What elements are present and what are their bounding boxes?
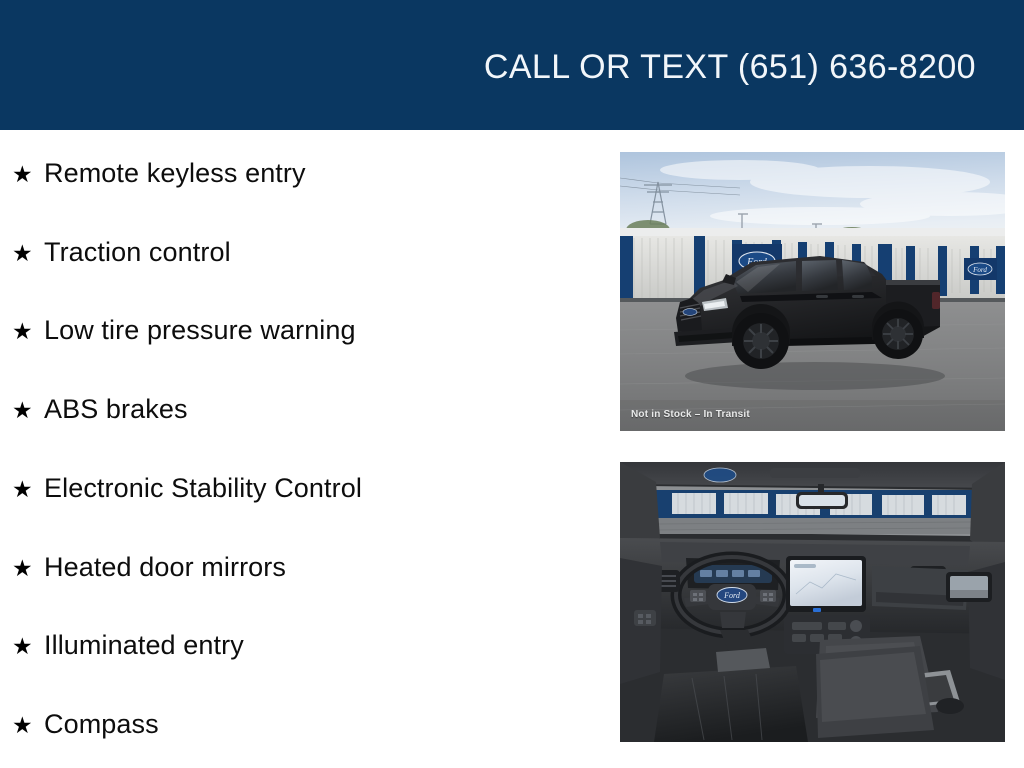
list-item: ★ Remote keyless entry: [0, 134, 600, 213]
list-item: ★ Illuminated entry: [0, 607, 600, 686]
svg-text:Ford: Ford: [972, 266, 987, 274]
star-bullet-icon: ★: [12, 397, 44, 422]
vehicle-interior-photo[interactable]: Ford: [620, 462, 1005, 742]
list-item: ★ Low tire pressure warning: [0, 292, 600, 371]
vehicle-photo-column: Ford Ford: [620, 152, 1005, 742]
feature-label: Compass: [44, 709, 600, 740]
star-bullet-icon: ★: [12, 476, 44, 501]
vehicle-exterior-photo[interactable]: Ford Ford: [620, 152, 1005, 431]
list-item: ★ Compass: [0, 685, 600, 764]
star-bullet-icon: ★: [12, 633, 44, 658]
feature-label: Heated door mirrors: [44, 552, 600, 583]
feature-label: Electronic Stability Control: [44, 473, 600, 504]
interior-photo-artwork: Ford: [620, 462, 1005, 742]
list-item: ★ Traction control: [0, 213, 600, 292]
svg-text:Ford: Ford: [723, 591, 741, 600]
list-item: ★ Electronic Stability Control: [0, 449, 600, 528]
feature-label: ABS brakes: [44, 394, 600, 425]
feature-label: Illuminated entry: [44, 630, 600, 661]
star-bullet-icon: ★: [12, 318, 44, 343]
feature-label: Low tire pressure warning: [44, 315, 600, 346]
exterior-photo-artwork: Ford Ford: [620, 152, 1005, 431]
vehicle-features-list: ★ Remote keyless entry ★ Traction contro…: [0, 134, 600, 764]
star-bullet-icon: ★: [12, 712, 44, 737]
vehicle-features-page: CALL OR TEXT (651) 636-8200 ★ Remote key…: [0, 0, 1024, 768]
header-bar: CALL OR TEXT (651) 636-8200: [0, 0, 1024, 130]
list-item: ★ Heated door mirrors: [0, 528, 600, 607]
star-bullet-icon: ★: [12, 555, 44, 580]
call-or-text-phone[interactable]: CALL OR TEXT (651) 636-8200: [484, 46, 1024, 84]
star-bullet-icon: ★: [12, 161, 44, 186]
star-bullet-icon: ★: [12, 240, 44, 265]
feature-label: Remote keyless entry: [44, 158, 600, 189]
feature-label: Traction control: [44, 237, 600, 268]
stock-status-caption: Not in Stock – In Transit: [631, 409, 750, 420]
list-item: ★ ABS brakes: [0, 370, 600, 449]
